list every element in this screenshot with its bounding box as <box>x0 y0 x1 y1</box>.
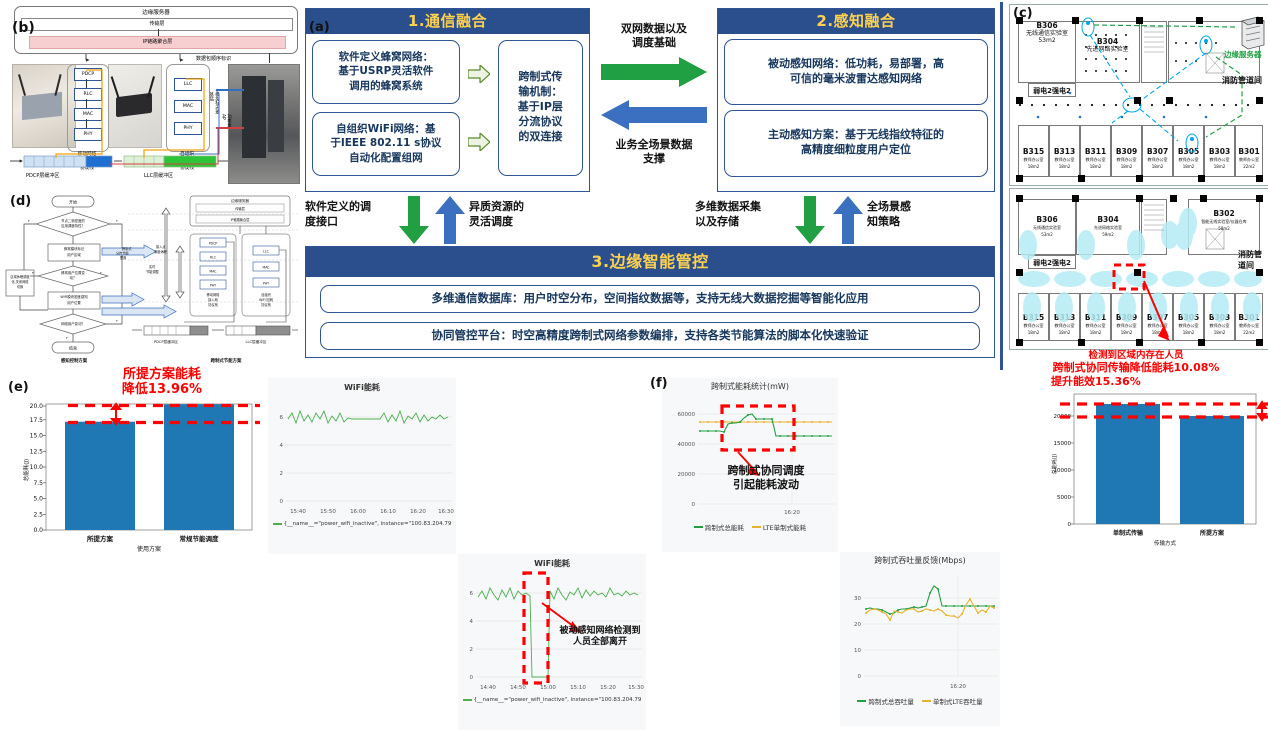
svg-text:16:10: 16:10 <box>380 509 396 515</box>
svg-text:15:10: 15:10 <box>570 685 586 691</box>
multidim-database-box: 多维通信数据库：用户时空分布，空间指纹数据等，支持无线大数据挖掘等智能化应用 <box>320 285 980 313</box>
svg-text:15:20: 15:20 <box>600 685 616 691</box>
usrp-device-body <box>22 92 62 120</box>
svg-text:深度休眠: 深度休眠 <box>154 249 168 254</box>
chart-f-energy-plot: 6000040000200000 16: <box>662 392 838 520</box>
svg-text:协议栈: 协议栈 <box>261 302 271 307</box>
floorplan-upper-overlay <box>1010 5 1268 185</box>
svg-text:0: 0 <box>858 674 862 680</box>
pillar-communication-fusion: 1.通信融合 软件定义蜂窝网络： 基于USRP灵活软件 调用的蜂窝系统 自组织W… <box>305 8 590 192</box>
floorplan-upper: B306 无线通信实验室 53m2 B304 先进网络实验室 弱电2强电2 B3… <box>1009 4 1268 186</box>
server-rack-cabinet-2 <box>268 80 284 152</box>
stack-left-conn-2 <box>86 99 87 108</box>
svg-text:边缘服务器: 边缘服务器 <box>231 198 249 203</box>
multidim-collection-label: 多维数据采集 以及存储 <box>695 200 795 230</box>
stack-right-node-0-label: LLC <box>175 79 201 90</box>
chart-wifi-2: WiFi能耗 6420 14:4014:5015:00 15:1015:2015… <box>458 554 646 730</box>
svg-text:结束: 结束 <box>69 345 77 351</box>
chart-wifi-1: WiFi能耗 6420 15:4015:5016:00 16:1016:2016… <box>268 378 456 554</box>
bar-proposed <box>65 422 135 530</box>
svg-text:总能耗(J): 总能耗(J) <box>22 459 30 481</box>
pillar-sensing-fusion: 2.感知融合 被动感知网络：低功耗，易部署，高 可信的毫米波雷达感知网络 主动感… <box>717 8 995 192</box>
chart-g: 0500010000 1500020000 单制式传输 所提方案 传输方式 总能… <box>1030 386 1268 560</box>
svg-text:4: 4 <box>280 443 284 449</box>
svg-text:单制式传输: 单制式传输 <box>1113 529 1144 537</box>
svg-text:15:40: 15:40 <box>290 509 306 515</box>
svg-text:4: 4 <box>470 619 474 625</box>
chart-wifi-2-legend: {__name__="power_wifi_inactive", instanc… <box>458 697 646 703</box>
stack-left-node-3-label: PHY <box>75 129 101 140</box>
center-arrows-group: 双网数据以及 调度基础 业务全场景数据 支撑 <box>593 12 715 192</box>
pillar-edge-intelligence: 3.边缘智能管控 多维通信数据库：用户时空分布，空间指纹数据等，支持无线大数据挖… <box>305 246 995 358</box>
svg-text:节点二帧密度的: 节点二帧密度的 <box>61 218 85 223</box>
bar-single-system <box>1096 404 1160 524</box>
svg-text:5000: 5000 <box>1057 495 1071 501</box>
svg-text:6: 6 <box>280 415 284 421</box>
vline-1 <box>158 29 159 36</box>
svg-text:2.5: 2.5 <box>33 511 43 518</box>
svg-text:接入点: 接入点 <box>156 244 166 249</box>
green-arrow-right-1 <box>468 65 490 83</box>
chart-f-throughput-legend: 跨制式总吞吐量 单制式LTE吞吐量 <box>840 696 1000 706</box>
svg-text:移动网络: 移动网络 <box>207 292 221 297</box>
svg-text:配置: 配置 <box>120 255 126 260</box>
svg-text:30: 30 <box>854 596 861 602</box>
svg-text:PHY: PHY <box>210 284 216 288</box>
green-arrow-right-2 <box>468 133 490 151</box>
green-arrow-down-right <box>795 196 825 244</box>
red-arrow-to-rack <box>216 127 244 129</box>
edge-server-container: 边缘服务器 传输层 IP链路聚合层 <box>14 6 298 54</box>
svg-text:16:30: 16:30 <box>438 509 454 515</box>
stack-left-conn-1 <box>86 79 87 88</box>
svg-text:PDCP: PDCP <box>209 242 218 246</box>
sdn-interface-label: 软件定义的调 度接口 <box>305 200 397 230</box>
svg-text:16:00: 16:00 <box>350 509 366 515</box>
full-scene-strategy-label: 全场景感 知策略 <box>867 200 967 230</box>
svg-text:0: 0 <box>470 675 474 681</box>
data-order-tag: 数据包顺序标识 <box>196 55 231 62</box>
wifi-2-legend-text: {__name__="power_wifi_inactive", instanc… <box>474 697 642 703</box>
svg-text:WiFi 回网: WiFi 回网 <box>259 298 273 302</box>
svg-text:PHY: PHY <box>263 282 269 286</box>
svg-text:所提方案: 所提方案 <box>1200 529 1225 537</box>
svg-text:总能耗(J): 总能耗(J) <box>1051 454 1058 474</box>
collab-control-platform-box: 协同管控平台：时空高精度跨制式网络参数编排，支持各类节能算法的脚本化快速验证 <box>320 322 980 350</box>
svg-text:15:00: 15:00 <box>540 685 556 691</box>
svg-text:7.5: 7.5 <box>33 480 43 487</box>
series-cross-energy <box>700 414 832 436</box>
pillar2-title: 2.感知融合 <box>718 9 994 34</box>
transport-layer-bar: 传输层 <box>21 18 293 31</box>
svg-text:蜂窝模块标记: 蜂窝模块标记 <box>64 246 85 251</box>
svg-text:感知控制方案: 感知控制方案 <box>61 357 88 364</box>
chart-wifi-2-title: WiFi能耗 <box>458 554 646 569</box>
svg-text:PDCP层缓冲区: PDCP层缓冲区 <box>154 339 178 344</box>
stack-left-node-2: MAC <box>74 108 102 121</box>
panel-f: (f) 跨制式能耗统计(mW) 6000040000200000 <box>648 376 1000 558</box>
svg-text:应用调度特性？: 应用调度特性？ <box>61 223 85 228</box>
svg-text:LLC: LLC <box>263 250 270 254</box>
cross-system-transport-box: 跨制式传 输机制： 基于IP层 分流协议 的双连接 <box>498 40 583 176</box>
heterogeneous-resource-label: 异质资源的 灵活调度 <box>469 200 579 230</box>
floorplan-lower-overlay <box>1010 189 1268 349</box>
svg-text:20.0: 20.0 <box>30 403 44 410</box>
svg-text:60000: 60000 <box>678 412 696 418</box>
stack-right-node-0: LLC <box>174 78 202 91</box>
svg-text:2: 2 <box>280 471 284 477</box>
ip-layer-label: IP链路聚合层 <box>30 37 285 48</box>
green-arrow-right-main <box>601 57 707 87</box>
right-vertical-arrows: 多维数据采集 以及存储 全场景感 知策略 <box>695 196 995 246</box>
chart-e-title: 所提方案能耗 降低13.96% <box>62 368 262 398</box>
svg-text:传输方式: 传输方式 <box>1154 539 1177 547</box>
chart-wifi-1-plot: 6420 15:4015:5016:00 16:1016:2016:30 <box>268 393 456 521</box>
edge-server-label-c: 边缘服务器 <box>1224 49 1262 60</box>
svg-text:蜂窝用户位置变: 蜂窝用户位置变 <box>61 270 85 275</box>
service-scene-label: 业务全场景数据 支撑 <box>593 138 715 166</box>
svg-text:RLC: RLC <box>210 256 217 260</box>
svg-text:15000: 15000 <box>1054 441 1072 447</box>
chart-f-energy-legend: 跨制式总能耗 LTE单制式能耗 <box>662 522 838 532</box>
svg-text:16:20: 16:20 <box>410 509 426 515</box>
svg-text:20000: 20000 <box>678 472 696 478</box>
svg-text:协议栈: 协议栈 <box>208 302 218 307</box>
ip-aggregation-bar: IP链路聚合层 <box>29 36 286 49</box>
chart-f-throughput: 跨制式吞吐量反馈(Mbps) 3020100 <box>840 552 1000 726</box>
blue-arrow-up-right <box>833 196 863 244</box>
floorplan-lower: B306 无线通信实验室 53m2 B304 先进网络实验室 59m2 B302… <box>1009 188 1268 350</box>
annotation-line1: 检测到区域内存在人员 <box>1007 350 1265 361</box>
panel-c-annotation: 检测到区域内存在人员 跨制式协同传输降低能耗10.08% 提升能效15.36% <box>1007 350 1265 388</box>
passive-sensing-box: 被动感知网络：低功耗，易部署，高 可信的毫米波雷达感知网络 <box>724 39 988 106</box>
edge-server-title: 边缘服务器 <box>15 8 297 16</box>
chart-f-throughput-title: 跨制式吞吐量反馈(Mbps) <box>840 552 1000 566</box>
stack-right-node-1-label: MAC <box>175 101 201 112</box>
svg-text:实时: 实时 <box>149 264 156 269</box>
active-sensing-box: 主动感知方案：基于无线指纹特征的 高精度细粒度用户定位 <box>724 110 988 177</box>
stack-left-node-2-label: MAC <box>75 109 101 120</box>
fire-pipe-label-lower: 消防管道间 <box>1238 249 1268 271</box>
legend-cross-energy: 跨制式总能耗 <box>705 522 744 532</box>
svg-text:6: 6 <box>470 591 474 597</box>
svg-text:T: T <box>115 319 118 323</box>
svg-text:接入网: 接入网 <box>208 297 218 302</box>
buffer-left-label: PDCP层缓冲区 <box>26 172 59 179</box>
blue-arrow-up-left <box>435 196 465 244</box>
wifi-2-annotation: 被动感知网络检测到 人员全部离开 <box>554 626 646 649</box>
svg-text:2: 2 <box>470 647 474 653</box>
chart-e-plot: 0.02.55.0 7.510.012.5 15.017.520.0 所提方案 … <box>12 400 260 552</box>
panel-b-buffer-group <box>4 150 304 190</box>
server-rack-cabinet <box>242 76 266 158</box>
fire-pipe-label-upper: 消防管道间 <box>1222 75 1262 86</box>
svg-text:切换: 切换 <box>17 284 24 289</box>
svg-text:跨制式: 跨制式 <box>122 246 132 251</box>
svg-text:区域休眠调度: 区域休眠调度 <box>10 274 30 279</box>
bar-proposed-scheme <box>1180 416 1244 524</box>
sdn-cellular-box: 软件定义蜂窝网络： 基于USRP灵活软件 调用的蜂窝系统 <box>312 40 460 104</box>
svg-text:使用方案: 使用方案 <box>137 545 161 552</box>
svg-text:15:50: 15:50 <box>320 509 336 515</box>
svg-text:0: 0 <box>1068 522 1072 528</box>
svg-text:0: 0 <box>280 499 284 505</box>
stack-left-node-0-label: PDCP <box>75 69 101 80</box>
stack-right-node-2: PHY <box>174 122 202 135</box>
svg-text:F: F <box>32 271 34 275</box>
svg-text:16:20: 16:20 <box>784 510 800 516</box>
svg-text:40000: 40000 <box>678 442 696 448</box>
panel-d-flowchart: 开始 节点二帧密度的 应用调度特性？ 蜂窝模块标记 用户区域 蜂窝用户位置变 动… <box>4 192 300 372</box>
svg-text:0: 0 <box>692 502 696 508</box>
transport-layer-label: 传输层 <box>22 19 292 30</box>
svg-text:节能调整: 节能调整 <box>146 269 160 274</box>
svg-text:T: T <box>115 219 118 223</box>
svg-text:开始: 开始 <box>69 199 77 205</box>
stack-left-node-1: RLC <box>74 88 102 101</box>
stack-left-conn-3 <box>86 119 87 128</box>
chart-f-throughput-plot: 3020100 16:20 <box>840 566 1000 694</box>
svg-text:用户位置: 用户位置 <box>67 300 81 305</box>
svg-text:10.0: 10.0 <box>30 464 44 471</box>
stack-right-node-2-label: PHY <box>175 123 201 134</box>
svg-text:网络用户变动？: 网络用户变动？ <box>61 321 85 326</box>
svg-text:17.5: 17.5 <box>30 417 44 424</box>
panel-c-label: (c) <box>1013 6 1033 21</box>
pillar3-title: 3.边缘智能管控 <box>306 247 994 277</box>
svg-text:MAC: MAC <box>262 266 270 270</box>
stack-left-node-3: PHY <box>74 128 102 141</box>
chart-wifi-1-title: WiFi能耗 <box>268 378 456 393</box>
chart-f-energy-title: 跨制式能耗统计(mW) <box>662 378 838 392</box>
chart-f-energy-annotation: 跨制式协同调度 引起能耗波动 <box>698 464 834 492</box>
svg-text:0.0: 0.0 <box>33 527 43 534</box>
svg-text:LLC层缓冲区: LLC层缓冲区 <box>246 339 267 344</box>
wifi-1-legend-text: {__name__="power_wifi_inactive", instanc… <box>284 521 452 527</box>
svg-text:F: F <box>28 219 30 223</box>
svg-text:所提方案: 所提方案 <box>87 534 114 543</box>
blue-arrow-left-main <box>601 100 707 130</box>
svg-text:分传节能: 分传节能 <box>116 251 130 256</box>
legend-cross-throughput: 跨制式总吞吐量 <box>868 696 914 706</box>
panel-a-label: (a) <box>309 20 330 35</box>
chart-wifi-1-legend: {__name__="power_wifi_inactive", instanc… <box>268 521 456 527</box>
left-vertical-arrows: 软件定义的调 度接口 异质资源的 灵活调度 <box>305 196 605 246</box>
legend-lte-energy: LTE单制式能耗 <box>763 522 806 532</box>
panel-b-label: (b) <box>12 20 35 36</box>
svg-text:动？: 动？ <box>70 275 77 280</box>
svg-text:15.0: 15.0 <box>30 433 44 440</box>
stack-left-node-1-label: RLC <box>75 89 101 100</box>
blue-arrow-to-rack <box>216 89 244 91</box>
green-arrow-down-left <box>399 196 429 244</box>
svg-text:5.0: 5.0 <box>33 496 43 503</box>
stack-right-node-1: MAC <box>174 100 202 113</box>
chart-e: (e) 所提方案能耗 降低13.96% 0.02.55.0 7.510.012.… <box>2 378 264 560</box>
svg-text:IP链路聚合层: IP链路聚合层 <box>231 217 250 222</box>
panel-a: (a) 1.通信融合 软件定义蜂窝网络： 基于USRP灵活软件 调用的蜂窝系统 … <box>305 4 995 364</box>
svg-text:T: T <box>99 271 102 275</box>
side-label-ap: 功率差 AP <box>220 114 231 127</box>
svg-text:MAC: MAC <box>209 270 217 274</box>
svg-text:14:50: 14:50 <box>510 685 526 691</box>
svg-text:12.5: 12.5 <box>30 448 44 455</box>
svg-text:化,关闭网络: 化,关闭网络 <box>12 279 30 284</box>
dual-network-label: 双网数据以及 调度基础 <box>593 22 715 50</box>
panel-f-label: (f) <box>650 376 668 391</box>
buffer-right-label: LLC层缓冲区 <box>144 172 173 179</box>
adhoc-wifi-box: 自组织WiFi网络：基 于IEEE 802.11 s协议 自动化配置组网 <box>312 112 460 176</box>
panel-d: (d) 开始 节点二帧密度的 应用调度特性？ 蜂窝模块标记 用户区域 蜂窝用户位… <box>4 192 300 372</box>
svg-text:10: 10 <box>854 648 861 654</box>
svg-text:F: F <box>66 336 68 340</box>
svg-text:常规节能调度: 常规节能调度 <box>180 534 220 543</box>
annotation-line2: 跨制式协同传输降低能耗10.08% <box>1007 361 1265 374</box>
panel-e-label: (e) <box>8 380 29 395</box>
svg-text:跨制式节能方案: 跨制式节能方案 <box>211 357 242 364</box>
svg-text:15:30: 15:30 <box>628 685 644 691</box>
stack-left-node-0: PDCP <box>74 68 102 81</box>
svg-text:20: 20 <box>854 622 861 628</box>
svg-text:传输层: 传输层 <box>235 206 245 211</box>
svg-text:自组织: 自组织 <box>261 292 271 297</box>
pillar1-title: 1.通信融合 <box>306 9 589 34</box>
side-label-basestation: 模拟标志差 基站 <box>208 92 219 114</box>
svg-text:WiFi模块密度感知: WiFi模块密度感知 <box>60 294 88 299</box>
tag-arrow-down <box>269 53 270 63</box>
svg-text:用户区域: 用户区域 <box>67 252 81 257</box>
legend-lte-throughput: 单制式LTE吞吐量 <box>933 696 983 706</box>
chart-g-plot: 0500010000 1500020000 单制式传输 所提方案 传输方式 总能… <box>1036 386 1268 556</box>
svg-text:14:40: 14:40 <box>480 685 496 691</box>
panel-c: (c) B306 无线通信实验室 53m2 B304 先进网络实验室 弱电2强电… <box>1000 2 1266 370</box>
chart-f-energy: 跨制式能耗统计(mW) 6000040000200000 <box>662 378 838 552</box>
svg-text:16:20: 16:20 <box>950 684 966 690</box>
panel-b: (b) 边缘服务器 传输层 IP链路聚合层 数据包顺序标识 PDCP RLC M… <box>4 2 300 188</box>
